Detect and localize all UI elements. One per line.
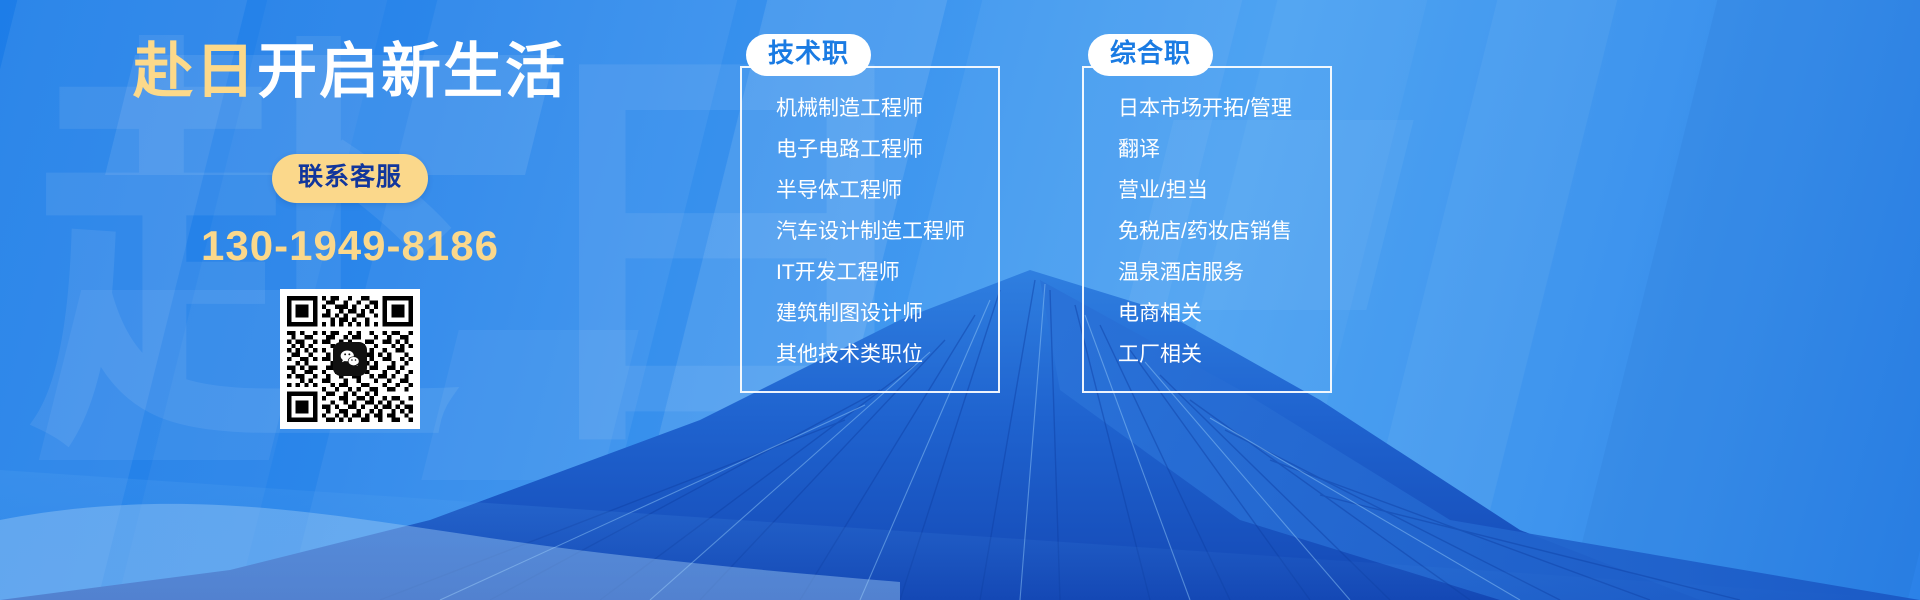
technical-jobs-box: 机械制造工程师 电子电路工程师 半导体工程师 汽车设计制造工程师 IT开发工程师…	[740, 66, 1000, 393]
general-jobs-box: 日本市场开拓/管理 翻译 营业/担当 免税店/药妆店销售 温泉酒店服务 电商相关…	[1082, 66, 1332, 393]
panel-technical-jobs: 技术职 机械制造工程师 电子电路工程师 半导体工程师 汽车设计制造工程师 IT开…	[740, 66, 1000, 393]
job-category-panels: 技术职 机械制造工程师 电子电路工程师 半导体工程师 汽车设计制造工程师 IT开…	[740, 66, 1332, 393]
panel-badge-general[interactable]: 综合职	[1088, 34, 1213, 76]
headline-rest: 开启新生活	[257, 38, 567, 105]
list-item[interactable]: 电子电路工程师	[776, 139, 964, 180]
page-title: 赴日开启新生活	[0, 42, 700, 102]
list-item[interactable]: 电商相关	[1118, 303, 1296, 344]
list-item[interactable]: 其他技术类职位	[776, 344, 964, 365]
list-item[interactable]: 翻译	[1118, 139, 1296, 180]
list-item[interactable]: 温泉酒店服务	[1118, 262, 1296, 303]
wechat-logo-icon	[333, 342, 367, 376]
promo-banner: 赴日	[0, 0, 1920, 600]
list-item[interactable]: 营业/担当	[1118, 180, 1296, 221]
list-item[interactable]: 免税店/药妆店销售	[1118, 221, 1296, 262]
headline-accent: 赴日	[133, 38, 257, 105]
list-item[interactable]: 日本市场开拓/管理	[1118, 98, 1296, 139]
technical-job-list: 机械制造工程师 电子电路工程师 半导体工程师 汽车设计制造工程师 IT开发工程师…	[776, 98, 964, 365]
list-item[interactable]: IT开发工程师	[776, 262, 964, 303]
list-item[interactable]: 机械制造工程师	[776, 98, 964, 139]
panel-badge-technical[interactable]: 技术职	[746, 34, 871, 76]
general-job-list: 日本市场开拓/管理 翻译 营业/担当 免税店/药妆店销售 温泉酒店服务 电商相关…	[1118, 98, 1296, 365]
contact-support-button[interactable]: 联系客服	[272, 154, 428, 203]
bg-slab	[1553, 0, 1920, 600]
list-item[interactable]: 汽车设计制造工程师	[776, 221, 964, 262]
list-item[interactable]: 建筑制图设计师	[776, 303, 964, 344]
list-item[interactable]: 工厂相关	[1118, 344, 1296, 365]
list-item[interactable]: 半导体工程师	[776, 180, 964, 221]
panel-general-jobs: 综合职 日本市场开拓/管理 翻译 营业/担当 免税店/药妆店销售 温泉酒店服务 …	[1082, 66, 1332, 393]
phone-number[interactable]: 130-1949-8186	[0, 225, 700, 267]
left-content-column: 赴日开启新生活 联系客服 130-1949-8186	[0, 0, 700, 600]
wechat-qr-code[interactable]	[280, 289, 420, 429]
